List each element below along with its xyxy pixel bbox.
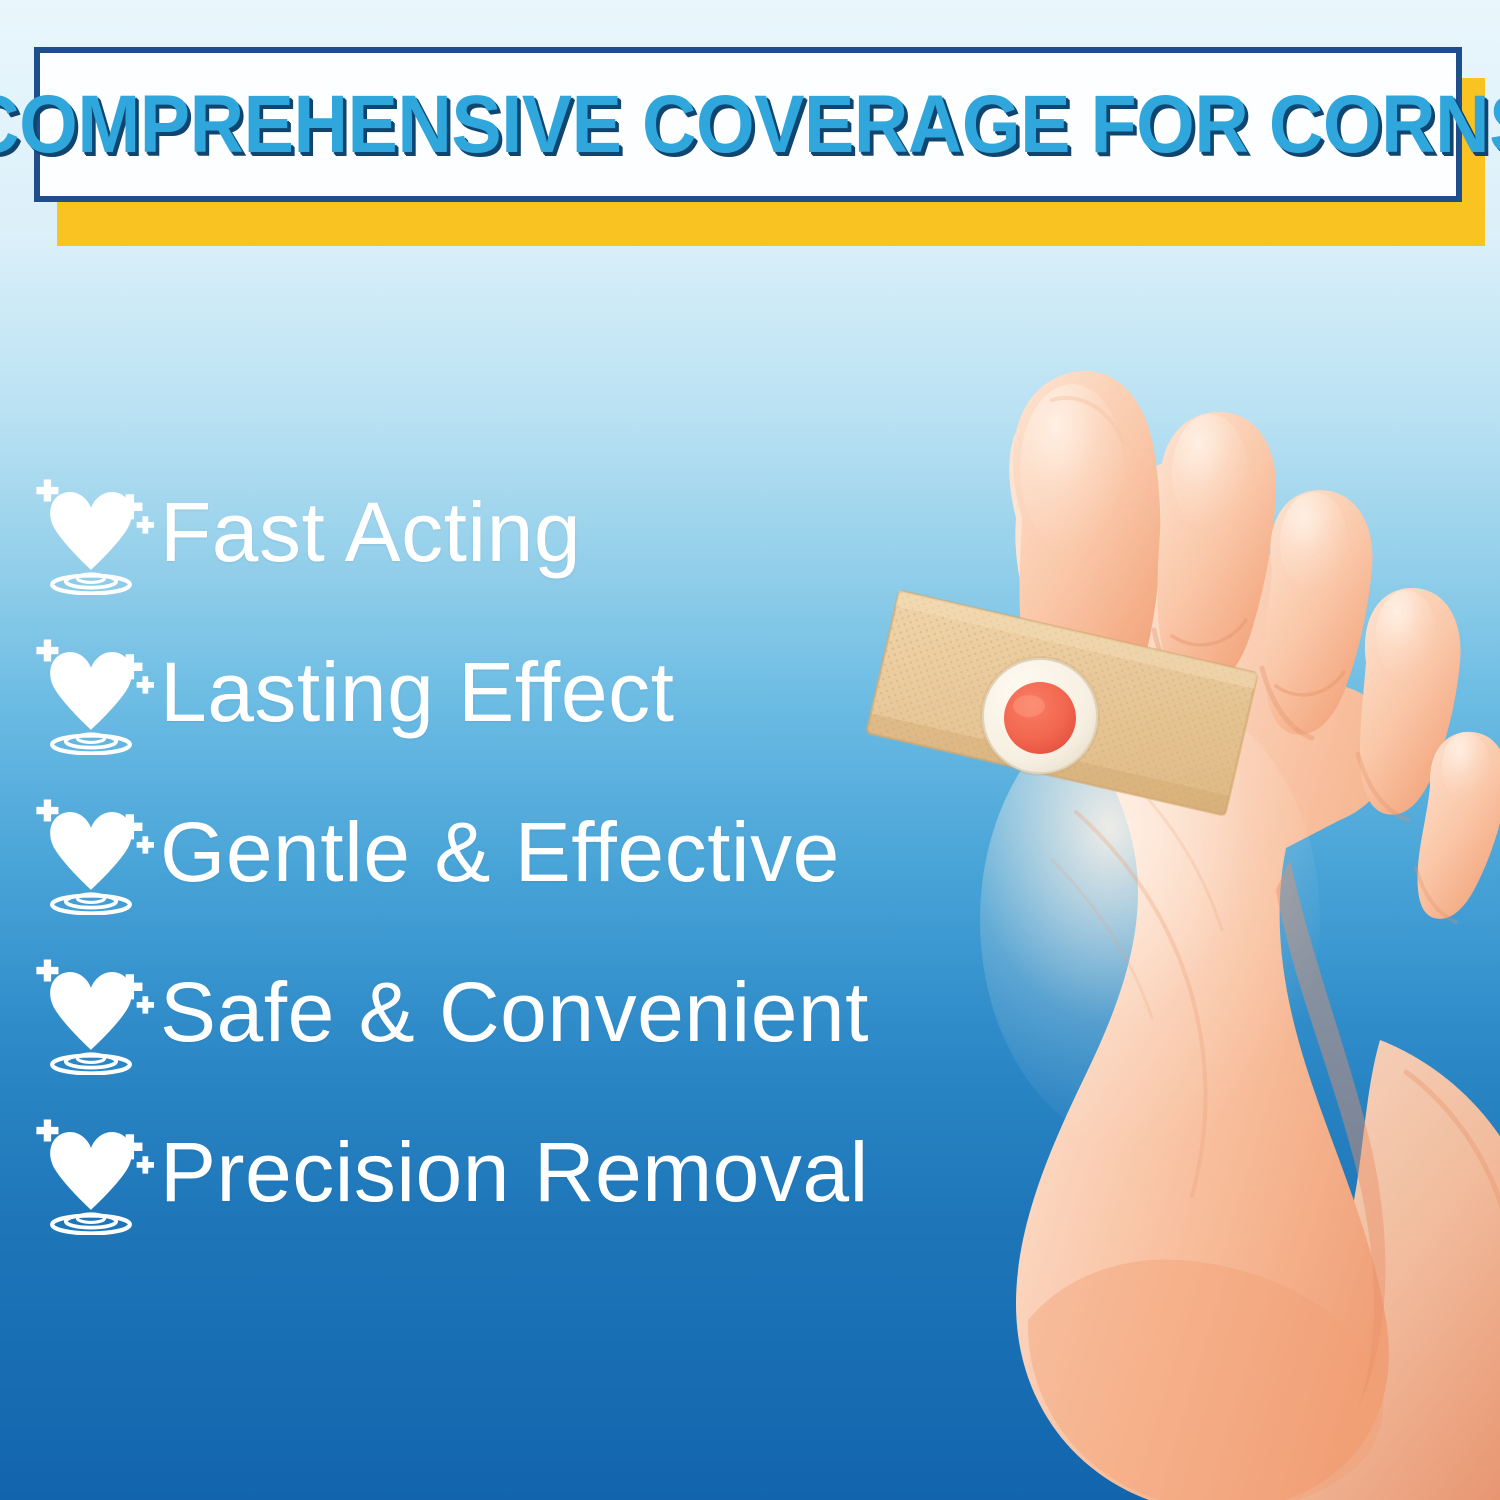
toe-third — [1264, 490, 1372, 735]
feature-row-fast-acting: Fast Acting — [28, 452, 958, 612]
header-banner: COMPREHENSIVE COVERAGE FOR CORNS — [34, 47, 1462, 202]
secondary-leg — [1218, 1040, 1500, 1500]
product-marketing-poster: COMPREHENSIVE COVERAGE FOR CORNS Fast Ac… — [0, 0, 1500, 1500]
feature-list: Fast Acting Lasting Effect — [28, 452, 958, 1252]
toe-little — [1418, 732, 1500, 919]
toe-fourth — [1360, 588, 1461, 815]
foot-sole — [980, 401, 1393, 1500]
feature-label: Lasting Effect — [160, 650, 674, 734]
plaster-ring — [980, 656, 1100, 776]
feature-label: Fast Acting — [160, 490, 581, 574]
feature-label: Gentle & Effective — [160, 810, 840, 894]
page-title: COMPREHENSIVE COVERAGE FOR CORNS — [0, 84, 1500, 166]
feature-label: Precision Removal — [160, 1130, 869, 1214]
heart-droplet-ripple-icon — [28, 949, 154, 1075]
feature-row-lasting-effect: Lasting Effect — [28, 612, 958, 772]
heart-droplet-ripple-icon — [28, 789, 154, 915]
heart-droplet-ripple-icon — [28, 1109, 154, 1235]
feature-label: Safe & Convenient — [160, 970, 869, 1054]
feature-row-safe-convenient: Safe & Convenient — [28, 932, 958, 1092]
heart-droplet-ripple-icon — [28, 469, 154, 595]
toe-second — [1157, 412, 1276, 689]
feature-row-precision-removal: Precision Removal — [28, 1092, 958, 1252]
foot-toes — [1013, 371, 1500, 922]
heart-droplet-ripple-icon — [28, 629, 154, 755]
toe-big — [1013, 371, 1160, 730]
header-title-box: COMPREHENSIVE COVERAGE FOR CORNS — [34, 47, 1462, 202]
feature-row-gentle-effective: Gentle & Effective — [28, 772, 958, 932]
